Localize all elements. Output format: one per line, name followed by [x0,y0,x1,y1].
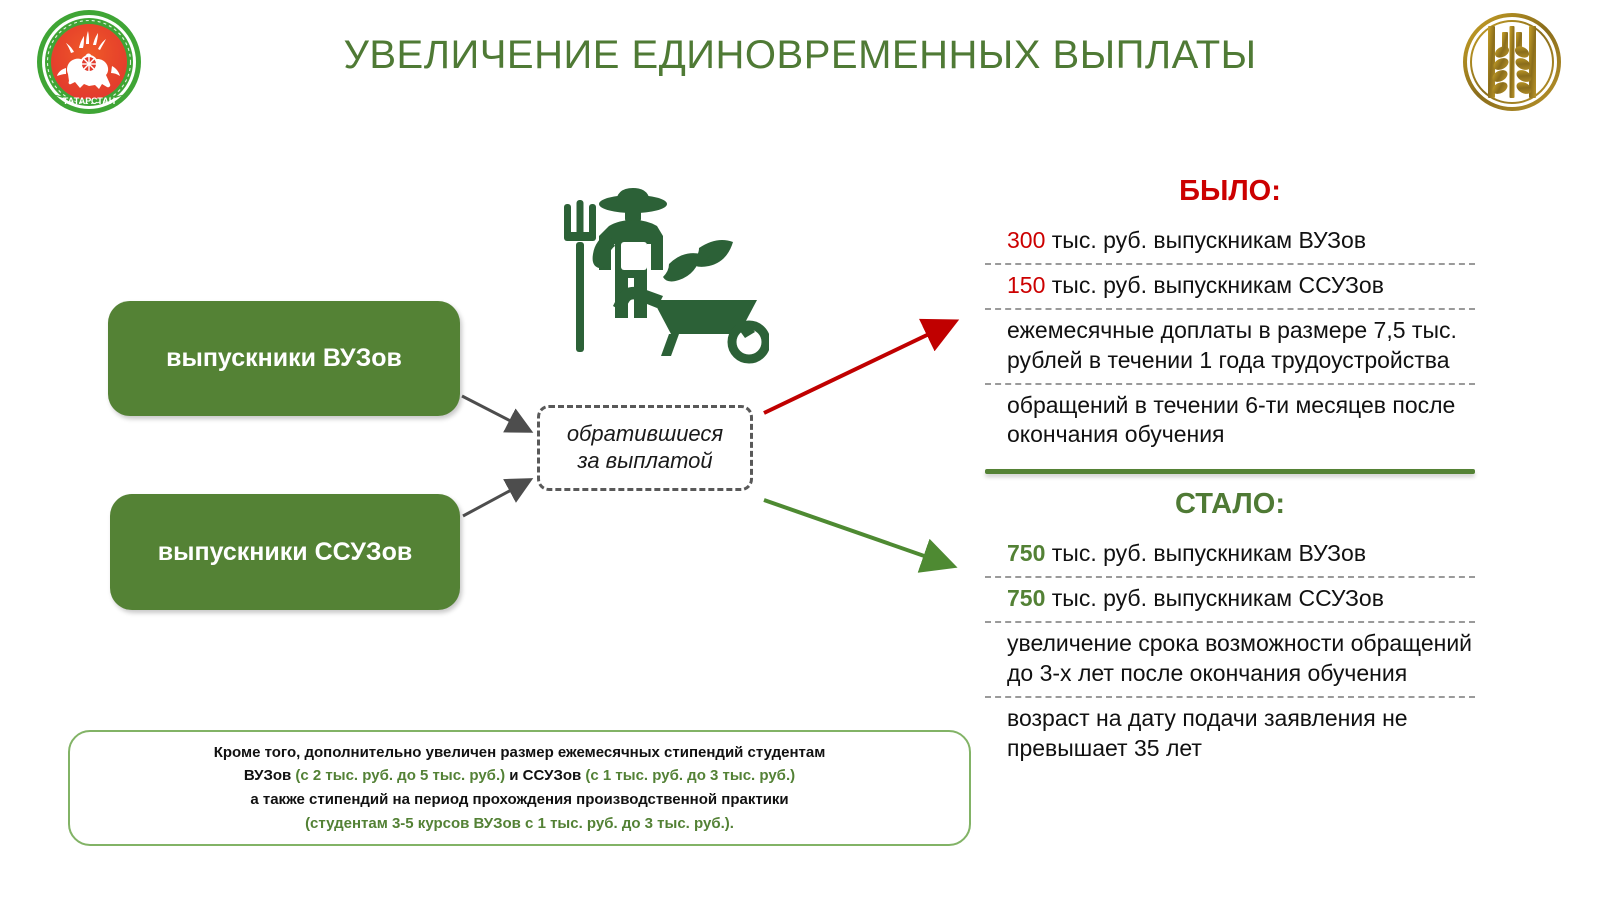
page-title: УВЕЛИЧЕНИЕ ЕДИНОВРЕМЕННЫХ ВЫПЛАТЫ [200,33,1400,78]
now-item-4: возраст на дату подачи заявления не прев… [985,698,1475,771]
arrow-vuz-to-applicants [462,396,528,430]
now-item-1: 750 тыс. руб. выпускникам ВУЗов [985,533,1475,578]
arrow-ssuz-to-applicants [463,481,528,516]
footnote-line-3: а также стипендий на период прохождения … [250,788,788,812]
box-graduates-vuz[interactable]: выпускники ВУЗов [108,301,460,416]
now-text-4: возраст на дату подачи заявления не прев… [1007,705,1408,761]
box-graduates-ssuz[interactable]: выпускники ССУЗов [110,494,460,610]
footnote-line-2-green-1: (с 2 тыс. руб. до 5 тыс. руб.) [295,767,505,784]
tatarstan-logo-caption: ТАТАРСТАН [63,96,115,106]
now-text-3: увеличение срока возможности обращений д… [1007,630,1472,686]
tatarstan-coat-of-arms-logo: ТАТАРСТАН [26,8,152,116]
now-block: СТАЛО: 750 тыс. руб. выпускникам ВУЗов 7… [985,488,1475,770]
was-item-4: обращений в течении 6-ти месяцев после о… [985,385,1475,458]
now-item-3: увеличение срока возможности обращений д… [985,623,1475,698]
footnote-line-2: ВУЗов (с 2 тыс. руб. до 5 тыс. руб.) и С… [244,764,795,788]
arrow-to-was-section [764,323,952,413]
slide-root: ТАТАРСТАН [0,0,1600,900]
footnote-line-2-part-b: и ССУЗов [505,767,585,784]
applicants-dashed-box: обратившиеся за выплатой [537,405,753,491]
footnote-line-1: Кроме того, дополнительно увеличен разме… [214,741,826,765]
was-text-1: тыс. руб. выпускникам ВУЗов [1045,227,1366,253]
ministry-agriculture-logo [1448,10,1576,114]
farmer-with-wheelbarrow-icon [523,182,769,374]
was-amount-1: 300 [1007,227,1045,253]
now-amount-2: 750 [1007,585,1045,611]
was-amount-2: 150 [1007,272,1045,298]
was-text-4: обращений в течении 6-ти месяцев после о… [1007,392,1455,448]
dashed-box-line-2: за выплатой [577,448,712,475]
was-block: БЫЛО: 300 тыс. руб. выпускникам ВУЗов 15… [985,175,1475,457]
now-item-2: 750 тыс. руб. выпускникам ССУЗов [985,578,1475,623]
footnote-line-2-part-a: ВУЗов [244,767,296,784]
dashed-box-line-1: обратившиеся [567,421,723,448]
was-text-3: ежемесячные доплаты в размере 7,5 тыс. р… [1007,317,1457,373]
now-text-1: тыс. руб. выпускникам ВУЗов [1045,540,1366,566]
was-item-3: ежемесячные доплаты в размере 7,5 тыс. р… [985,310,1475,385]
now-heading: СТАЛО: [985,488,1475,521]
footnote-box: Кроме того, дополнительно увеличен разме… [68,730,971,846]
now-amount-1: 750 [1007,540,1045,566]
comparison-column: БЫЛО: 300 тыс. руб. выпускникам ВУЗов 15… [985,175,1475,771]
footnote-line-4: (студентам 3-5 курсов ВУЗов с 1 тыс. руб… [305,812,734,836]
now-text-2: тыс. руб. выпускникам ССУЗов [1045,585,1384,611]
section-divider [985,469,1475,474]
was-item-1: 300 тыс. руб. выпускникам ВУЗов [985,220,1475,265]
was-heading: БЫЛО: [985,175,1475,208]
footnote-line-2-green-2: (с 1 тыс. руб. до 3 тыс. руб.) [585,767,795,784]
was-text-2: тыс. руб. выпускникам ССУЗов [1045,272,1384,298]
was-item-2: 150 тыс. руб. выпускникам ССУЗов [985,265,1475,310]
arrow-to-now-section [764,500,950,565]
